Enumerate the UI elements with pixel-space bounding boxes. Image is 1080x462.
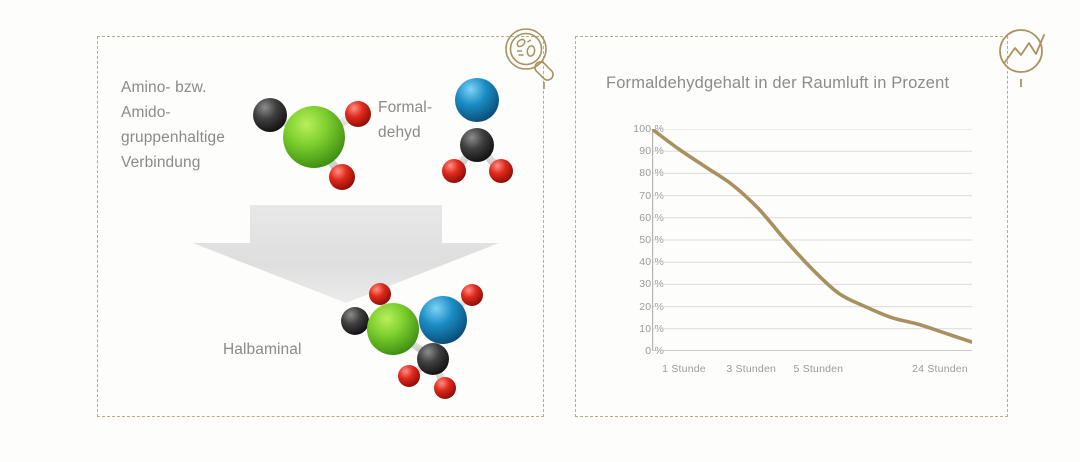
amino-compound-molecule — [238, 83, 394, 197]
x-tick-label: 1 Stunde — [662, 363, 706, 375]
trend-chart-circle-icon — [988, 21, 1058, 91]
halbaminal-molecule — [327, 275, 507, 403]
chart-area: 100 %90 %80 %70 %60 %50 %40 %30 %20 %10 … — [600, 120, 1000, 385]
chart-title: Formaldehydgehalt in der Raumluft in Pro… — [606, 74, 949, 93]
magnifier-germs-icon — [498, 21, 568, 91]
x-tick-label: 5 Stunden — [794, 363, 844, 375]
chart-plot — [652, 129, 972, 351]
x-tick-label: 3 Stunden — [726, 363, 776, 375]
x-tick-label: 24 Stunden — [912, 363, 968, 375]
